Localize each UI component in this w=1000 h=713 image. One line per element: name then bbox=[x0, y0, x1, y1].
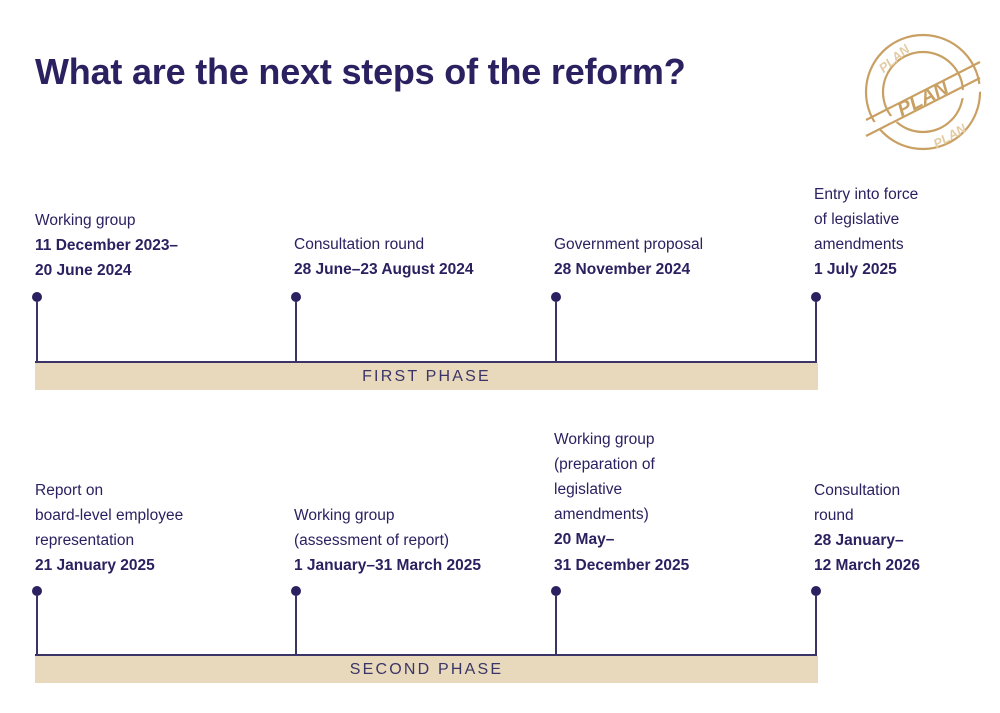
milestone-title: round bbox=[814, 503, 920, 528]
milestone-stem bbox=[815, 595, 817, 655]
first-phase-band: FIRST PHASE bbox=[35, 363, 818, 390]
milestone-title: representation bbox=[35, 528, 183, 553]
milestone-label: Report on board-level employee represent… bbox=[35, 478, 183, 578]
milestone-stem bbox=[295, 301, 297, 362]
milestone-title: Consultation round bbox=[294, 232, 473, 257]
svg-text:PLAN: PLAN bbox=[931, 120, 970, 151]
page-title: What are the next steps of the reform? bbox=[35, 52, 686, 92]
milestone-date: 20 June 2024 bbox=[35, 258, 178, 283]
milestone-date: 20 May– bbox=[554, 527, 689, 552]
second-phase-band: SECOND PHASE bbox=[35, 656, 818, 683]
milestone-title: amendments bbox=[814, 232, 918, 257]
milestone-title: Working group bbox=[294, 503, 481, 528]
milestone-date: 1 July 2025 bbox=[814, 257, 918, 282]
phase-band-label: FIRST PHASE bbox=[362, 368, 491, 386]
milestone-date: 31 December 2025 bbox=[554, 553, 689, 578]
milestone-title: amendments) bbox=[554, 502, 689, 527]
milestone-stem bbox=[36, 595, 38, 655]
milestone-date: 28 November 2024 bbox=[554, 257, 703, 282]
milestone-stem bbox=[555, 595, 557, 655]
svg-text:PLAN: PLAN bbox=[876, 41, 913, 76]
milestone-label: Working group (preparation of legislativ… bbox=[554, 427, 689, 578]
milestone-title: Working group bbox=[35, 208, 178, 233]
milestone-title: Consultation bbox=[814, 478, 920, 503]
milestone-title: (preparation of bbox=[554, 452, 689, 477]
milestone-date: 28 June–23 August 2024 bbox=[294, 257, 473, 282]
milestone-title: Working group bbox=[554, 427, 689, 452]
milestone-label: Consultation round 28 June–23 August 202… bbox=[294, 232, 473, 282]
milestone-label: Government proposal 28 November 2024 bbox=[554, 232, 703, 282]
milestone-stem bbox=[815, 301, 817, 362]
svg-text:PLAN: PLAN bbox=[894, 77, 953, 122]
milestone-title: of legislative bbox=[814, 207, 918, 232]
milestone-title: legislative bbox=[554, 477, 689, 502]
milestone-date: 1 January–31 March 2025 bbox=[294, 553, 481, 578]
milestone-label: Working group (assessment of report) 1 J… bbox=[294, 503, 481, 578]
milestone-title: board-level employee bbox=[35, 503, 183, 528]
milestone-date: 12 March 2026 bbox=[814, 553, 920, 578]
milestone-stem bbox=[295, 595, 297, 655]
milestone-stem bbox=[36, 301, 38, 362]
milestone-date: 21 January 2025 bbox=[35, 553, 183, 578]
milestone-label: Consultation round 28 January– 12 March … bbox=[814, 478, 920, 578]
milestone-label: Entry into force of legislative amendmen… bbox=[814, 182, 918, 282]
plan-stamp-icon: PLAN PLAN PLAN bbox=[857, 28, 989, 156]
milestone-stem bbox=[555, 301, 557, 362]
milestone-title: Government proposal bbox=[554, 232, 703, 257]
phase-band-label: SECOND PHASE bbox=[350, 661, 504, 679]
milestone-title: Entry into force bbox=[814, 182, 918, 207]
milestone-title: (assessment of report) bbox=[294, 528, 481, 553]
milestone-title: Report on bbox=[35, 478, 183, 503]
milestone-date: 11 December 2023– bbox=[35, 233, 178, 258]
milestone-date: 28 January– bbox=[814, 528, 920, 553]
